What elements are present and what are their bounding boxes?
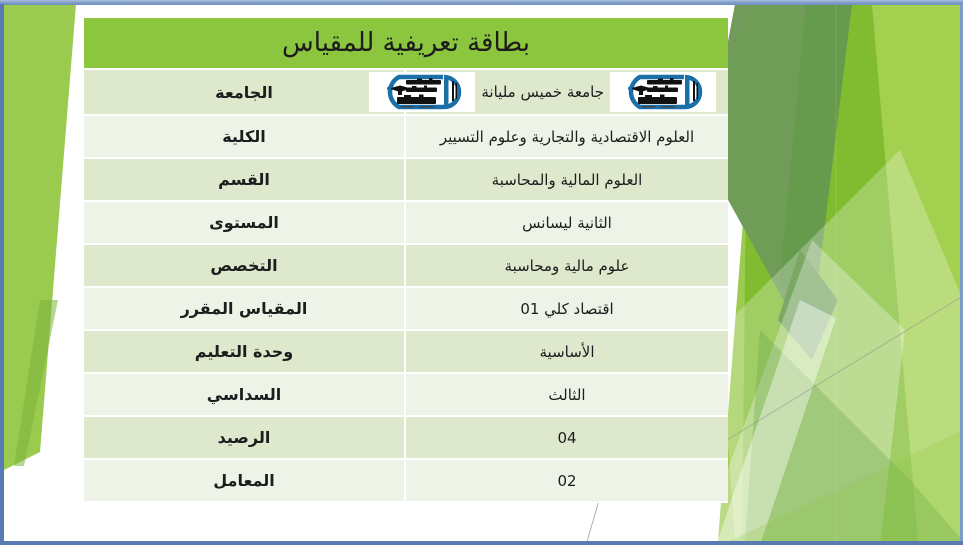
- table-row: علوم مالية ومحاسبة التخصص: [84, 245, 728, 288]
- table-row: الثانية ليسانس المستوى: [84, 202, 728, 245]
- cell-value-university: جامعة خميس مليانة: [406, 70, 728, 116]
- left-green-wedge: [4, 4, 76, 470]
- university-logo-icon: [610, 72, 716, 112]
- table-row: 02 المعامل: [84, 460, 728, 503]
- cell-key-semester: السداسي: [84, 374, 406, 417]
- cell-key-credits: الرصيد: [84, 417, 406, 460]
- cell-key-level: المستوى: [84, 202, 406, 245]
- table-row: العلوم الاقتصادية والتجارية وعلوم التسيي…: [84, 116, 728, 159]
- cell-value-course: اقتصاد كلي 01: [406, 288, 728, 331]
- cell-value-university-text: جامعة خميس مليانة: [481, 83, 604, 101]
- cell-key-department: القسم: [84, 159, 406, 202]
- course-info-card: بطاقة تعريفية للمقياس: [84, 18, 728, 503]
- table-row: العلوم المالية والمحاسبة القسم: [84, 159, 728, 202]
- cell-key-course: المقياس المقرر: [84, 288, 406, 331]
- university-logo-icon-secondary: [369, 72, 475, 112]
- page-title: بطاقة تعريفية للمقياس: [84, 18, 728, 70]
- table-row: اقتصاد كلي 01 المقياس المقرر: [84, 288, 728, 331]
- cell-value-semester: الثالث: [406, 374, 728, 417]
- table-row: الأساسية وحدة التعليم: [84, 331, 728, 374]
- cell-value-credits: 04: [406, 417, 728, 460]
- table-row: 04 الرصيد: [84, 417, 728, 460]
- cell-value-teaching-unit: الأساسية: [406, 331, 728, 374]
- window-frame-left: [0, 4, 4, 545]
- window-frame-top: [0, 0, 963, 5]
- presentation-slide: بطاقة تعريفية للمقياس: [0, 0, 963, 545]
- cell-value-faculty: العلوم الاقتصادية والتجارية وعلوم التسيي…: [406, 116, 728, 159]
- cell-key-university: الجامعة: [84, 70, 406, 116]
- cell-key-speciality: التخصص: [84, 245, 406, 288]
- card-title-row: بطاقة تعريفية للمقياس: [84, 18, 728, 70]
- cell-value-speciality: علوم مالية ومحاسبة: [406, 245, 728, 288]
- table-row: الثالث السداسي: [84, 374, 728, 417]
- window-frame-bottom: [0, 541, 963, 545]
- table-row: جامعة خميس مليانة: [84, 70, 728, 116]
- cell-value-coefficient: 02: [406, 460, 728, 503]
- cell-key-coefficient: المعامل: [84, 460, 406, 503]
- cell-value-department: العلوم المالية والمحاسبة: [406, 159, 728, 202]
- cell-key-faculty: الكلية: [84, 116, 406, 159]
- cell-key-teaching-unit: وحدة التعليم: [84, 331, 406, 374]
- cell-value-level: الثانية ليسانس: [406, 202, 728, 245]
